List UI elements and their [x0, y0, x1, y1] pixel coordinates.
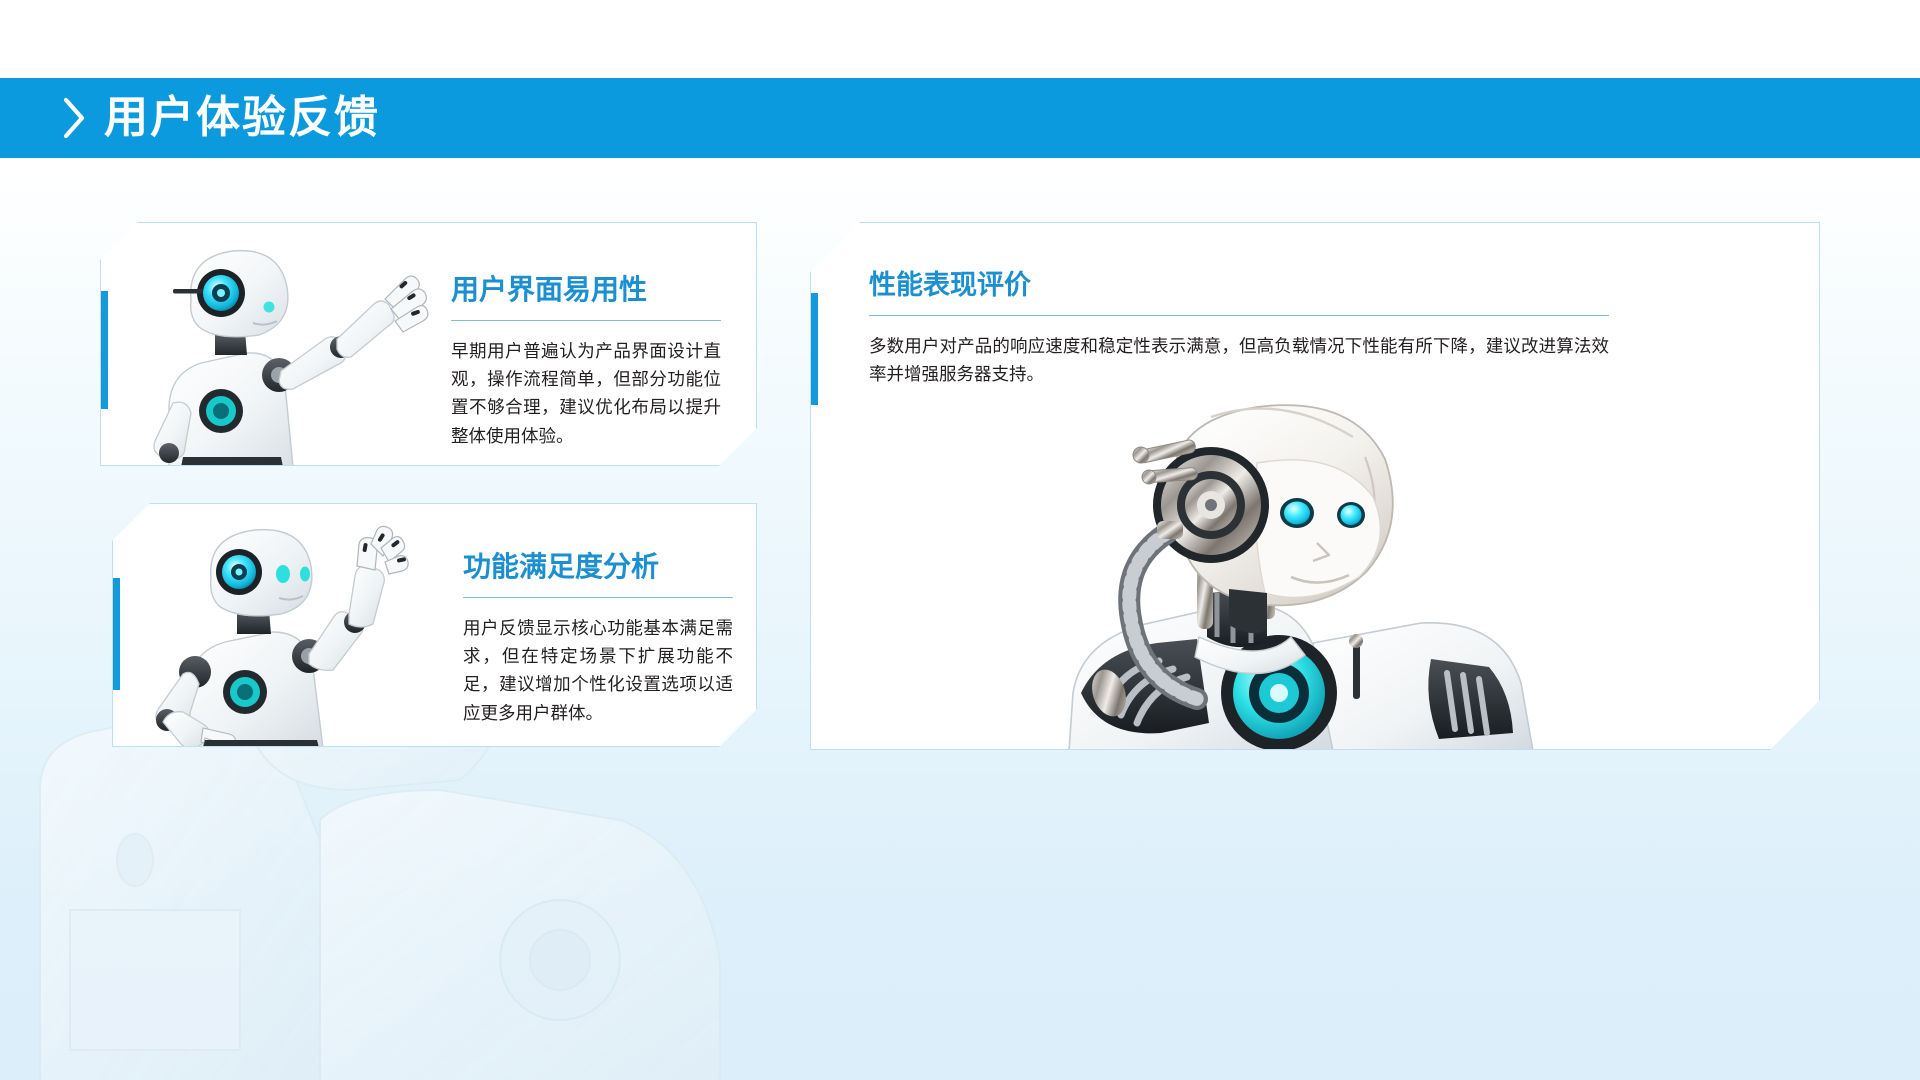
- robot-pointing-icon: [129, 235, 429, 466]
- page-header-band: 用户体验反馈: [0, 78, 1920, 158]
- card-functionality[interactable]: 功能满足度分析 用户反馈显示核心功能基本满足需求，但在特定场景下扩展功能不足，建…: [112, 503, 757, 747]
- card-performance-divider: [869, 315, 1609, 316]
- card-functionality-title: 功能满足度分析: [463, 552, 733, 583]
- card-performance[interactable]: 性能表现评价 多数用户对产品的响应速度和稳定性表示满意，但高负载情况下性能有所下…: [810, 222, 1820, 750]
- card-usability-divider: [451, 320, 721, 321]
- page-title: 用户体验反馈: [104, 96, 380, 140]
- card-usability-title: 用户界面易用性: [451, 275, 721, 306]
- card-performance-text: 多数用户对产品的响应速度和稳定性表示满意，但高负载情况下性能有所下降，建议改进算…: [869, 332, 1609, 389]
- card-usability[interactable]: 用户界面易用性 早期用户普遍认为产品界面设计直观，操作流程简单，但部分功能位置不…: [100, 222, 757, 466]
- card-functionality-divider: [463, 597, 733, 598]
- card-accent-bar: [811, 293, 818, 405]
- card-functionality-text: 用户反馈显示核心功能基本满足需求，但在特定场景下扩展功能不足，建议增加个性化设置…: [463, 614, 733, 727]
- card-functionality-body: 功能满足度分析 用户反馈显示核心功能基本满足需求，但在特定场景下扩展功能不足，建…: [463, 552, 733, 727]
- card-usability-body: 用户界面易用性 早期用户普遍认为产品界面设计直观，操作流程简单，但部分功能位置不…: [451, 275, 721, 450]
- card-accent-bar: [101, 291, 108, 409]
- card-performance-title: 性能表现评价: [869, 271, 1609, 301]
- robot-head-bust-icon: [961, 393, 1641, 750]
- card-accent-bar: [113, 578, 120, 690]
- chevron-right-icon: [62, 96, 88, 140]
- card-performance-body: 性能表现评价 多数用户对产品的响应速度和稳定性表示满意，但高负载情况下性能有所下…: [869, 271, 1609, 388]
- robot-waving-icon: [133, 522, 453, 747]
- card-usability-text: 早期用户普遍认为产品界面设计直观，操作流程简单，但部分功能位置不够合理，建议优化…: [451, 337, 721, 450]
